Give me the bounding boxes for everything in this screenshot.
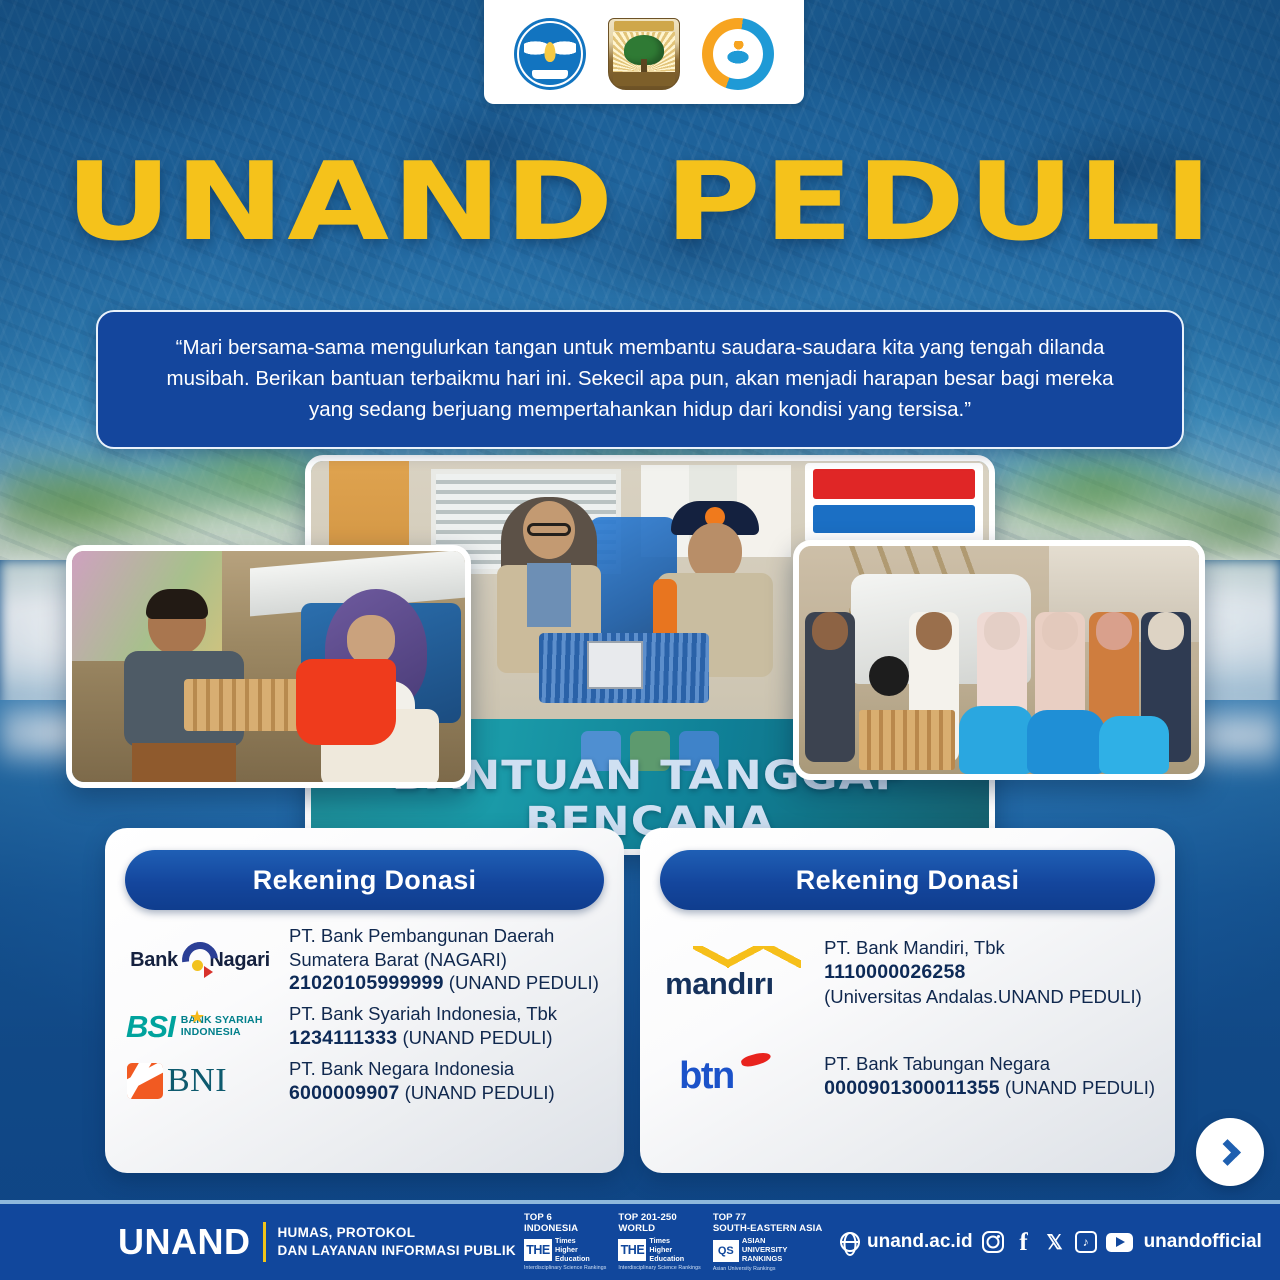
the-line3: Education: [555, 1254, 590, 1263]
chevron-right-icon: [1214, 1139, 1241, 1166]
footer-social: unand.ac.id f 𝕏 ♪ unandofficial: [840, 1231, 1262, 1253]
rank-footnote: Interdisciplinary Science Rankings: [524, 1265, 606, 1271]
qs-logo: QS: [713, 1240, 739, 1262]
footer-unit-line1: HUMAS, PROTOKOL: [278, 1225, 416, 1240]
account-desc-line: PT. Bank Syariah Indonesia, Tbk: [289, 1002, 604, 1026]
instagram-icon[interactable]: [982, 1231, 1004, 1253]
photo-collage: BANTUAN TANGGAP BENCANA: [0, 440, 1280, 860]
account-number: 0000901300011355: [824, 1077, 1000, 1099]
qs-line2: UNIVERSITY: [742, 1245, 788, 1254]
universitas-andalas-logo: [608, 18, 680, 90]
photo-left-egg-donation: [66, 545, 471, 788]
account-number: 6000009907: [289, 1082, 399, 1104]
account-row: Bank Nagari PT. Bank Pembangunan Daerah …: [125, 924, 604, 996]
the-line1: Times: [555, 1236, 576, 1245]
ranking-badge: TOP 6 INDONESIA THE Times Higher Educati…: [524, 1212, 606, 1272]
rank-cap1: TOP 77: [713, 1212, 746, 1223]
the-line3: Education: [649, 1254, 684, 1263]
bni-logo: BNI: [125, 1061, 275, 1101]
footer-brand-name: UNAND: [118, 1221, 251, 1263]
account-row: BSI★ BANK SYARIAHINDONESIA PT. Bank Syar…: [125, 1002, 604, 1051]
ranking-badge: TOP 77 SOUTH-EASTERN ASIA QS ASIAN UNIVE…: [713, 1212, 823, 1272]
photo-right-aid-recipients: [793, 540, 1205, 780]
website-url: unand.ac.id: [867, 1231, 973, 1253]
quote-box: “Mari bersama-sama mengulurkan tangan un…: [96, 310, 1184, 449]
account-row: BNI PT. Bank Negara Indonesia 6000009907…: [125, 1057, 604, 1106]
x-twitter-icon[interactable]: 𝕏: [1044, 1231, 1066, 1253]
account-desc-line: Sumatera Barat (NAGARI): [289, 948, 604, 972]
rank-cap1: TOP 6: [524, 1212, 552, 1223]
globe-icon: [840, 1232, 860, 1252]
rank-cap2: INDONESIA: [524, 1223, 578, 1234]
account-holder: (UNAND PEDULI): [449, 972, 599, 993]
rank-footnote: Interdisciplinary Science Rankings: [618, 1265, 700, 1271]
account-desc-line: PT. Bank Mandiri, Tbk: [824, 936, 1155, 960]
the-logo: THE: [618, 1239, 646, 1261]
account-holder: (UNAND PEDULI): [1005, 1077, 1155, 1098]
account-desc-line: PT. Bank Negara Indonesia: [289, 1057, 604, 1081]
donation-card-left: Rekening Donasi Bank Nagari PT. Bank Pem…: [105, 828, 624, 1173]
account-row: btn PT. Bank Tabungan Negara 00009013000…: [660, 1052, 1155, 1101]
the-line1: Times: [649, 1236, 670, 1245]
the-line2: Higher: [555, 1245, 578, 1254]
rank-cap2: WORLD: [618, 1223, 655, 1234]
page-title: UNAND PEDULI: [0, 148, 1280, 258]
tut-wuri-handayani-logo: [514, 18, 586, 90]
account-number: 21020105999999: [289, 972, 444, 994]
ranking-badges: TOP 6 INDONESIA THE Times Higher Educati…: [524, 1212, 822, 1272]
facebook-icon[interactable]: f: [1013, 1231, 1035, 1253]
footer-divider: [263, 1222, 266, 1262]
donation-card-right: Rekening Donasi mandırı PT. Bank Mandiri…: [640, 828, 1175, 1173]
rank-cap1: TOP 201-250: [618, 1212, 676, 1223]
diktisaintek-berdampak-logo: [702, 18, 774, 90]
social-handle: unandofficial: [1144, 1231, 1262, 1253]
account-number: 1234111333: [289, 1027, 397, 1049]
footer-brand: UNAND HUMAS, PROTOKOL DAN LAYANAN INFORM…: [118, 1221, 516, 1263]
posko-sign: [805, 463, 983, 543]
the-line2: Higher: [649, 1245, 672, 1254]
footer-bar: UNAND HUMAS, PROTOKOL DAN LAYANAN INFORM…: [0, 1204, 1280, 1280]
mandiri-logo: mandırı: [660, 946, 810, 998]
account-row: mandırı PT. Bank Mandiri, Tbk 1110000026…: [660, 936, 1155, 1008]
rank-footnote: Asian University Rankings: [713, 1266, 823, 1272]
donation-cards: Rekening Donasi Bank Nagari PT. Bank Pem…: [105, 828, 1175, 1173]
account-holder: (UNAND PEDULI): [402, 1027, 552, 1048]
rekening-donasi-heading-right: Rekening Donasi: [660, 850, 1155, 910]
qs-line1: ASIAN: [742, 1236, 766, 1245]
account-holder: (UNAND PEDULI): [405, 1082, 555, 1103]
bank-nagari-logo: Bank Nagari: [125, 940, 275, 980]
account-desc-line: PT. Bank Tabungan Negara: [824, 1052, 1155, 1076]
account-holder: (Universitas Andalas.UNAND PEDULI): [824, 985, 1155, 1009]
rekening-donasi-heading-left: Rekening Donasi: [125, 850, 604, 910]
youtube-icon[interactable]: [1106, 1233, 1133, 1252]
the-logo: THE: [524, 1239, 552, 1261]
institution-logo-plate: [484, 0, 804, 104]
qs-line3: RANKINGS: [742, 1254, 783, 1263]
bsi-logo: BSI★ BANK SYARIAHINDONESIA: [125, 1008, 275, 1046]
website-link[interactable]: unand.ac.id: [840, 1231, 973, 1253]
rank-cap2: SOUTH-EASTERN ASIA: [713, 1223, 823, 1234]
ranking-badge: TOP 201-250 WORLD THE Times Higher Educa…: [618, 1212, 700, 1272]
btn-logo: btn: [660, 1055, 810, 1099]
next-slide-button[interactable]: [1196, 1118, 1264, 1186]
tiktok-icon[interactable]: ♪: [1075, 1231, 1097, 1253]
account-number: 1110000026258: [824, 960, 1155, 985]
footer-unit-line2: DAN LAYANAN INFORMASI PUBLIK: [278, 1243, 516, 1258]
account-desc-line: PT. Bank Pembangunan Daerah: [289, 924, 604, 948]
